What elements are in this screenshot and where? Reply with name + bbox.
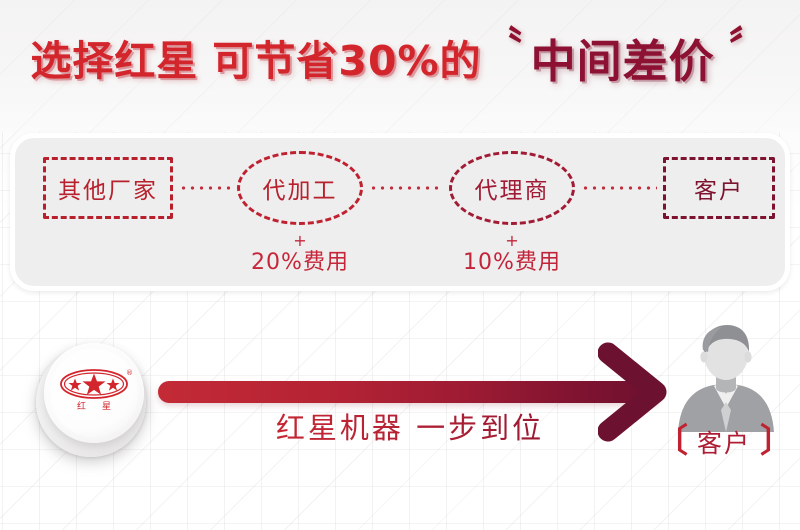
customer-label: 客户 [697,424,751,460]
chain-node-label: 代理商 [475,171,550,205]
chain-fee-agent: + 10%费用 [412,233,612,276]
customer-avatar [672,322,780,432]
fee-amount: 20%费用 [200,250,400,276]
middleman-chain-card: 其他厂家 代加工 代理商 客户 + 20%费用 + 10%费用 [10,133,790,291]
quote-open-icon: 〝 [483,27,524,67]
chain-node-oem: 代加工 [237,151,363,225]
logo-brand-char-1: 红 [77,399,86,412]
chain-connector-3 [581,186,657,190]
quote-close-icon: 〞 [729,27,770,67]
chain-node-label: 其他厂家 [58,171,158,205]
bracket-left-icon: 〔 [655,424,688,457]
headline-part2: 可节省30%的 [212,27,481,87]
flow-arrow-shaft [158,381,658,403]
fee-plus-sign: + [412,233,612,249]
fee-plus-sign: + [200,233,400,249]
headline: 选择红星 可节省30%的 〝 中间差价 〞 [0,26,800,88]
chain-node-label: 代加工 [263,171,338,205]
registered-mark-icon: ® [126,369,133,377]
chain-diagram: 其他厂家 代加工 代理商 客户 + 20%费用 + 10%费用 [15,138,785,286]
headline-highlight: 中间差价 [527,25,719,90]
logo-inner-disc: ® 红 星 [50,349,138,437]
bracket-right-icon: 〕 [760,424,793,457]
chain-node-label: 客户 [694,171,744,205]
chain-connector-2 [369,186,443,190]
logo-brand-text: 红 星 [56,399,132,412]
arrow-tagline: 红星机器 一步到位 [200,405,620,447]
logo-brand-char-2: 星 [102,399,111,412]
brand-logo: ® 红 星 [34,341,148,455]
businessman-silhouette-icon [672,322,780,432]
customer-tag: 〔 客户 〕 [648,424,800,460]
chain-node-customer: 客户 [663,157,775,219]
chain-node-agent: 代理商 [449,151,575,225]
fee-amount: 10%费用 [412,250,612,276]
chain-connector-1 [179,186,231,190]
chain-fee-oem: + 20%费用 [200,233,400,276]
headline-part1: 选择红星 [30,27,198,87]
promo-banner: 选择红星 可节省30%的 〝 中间差价 〞 其他厂家 代加工 代理商 客户 [0,0,800,530]
chain-node-other-factory: 其他厂家 [43,157,173,219]
logo-star-mark: ® 红 星 [56,368,132,418]
